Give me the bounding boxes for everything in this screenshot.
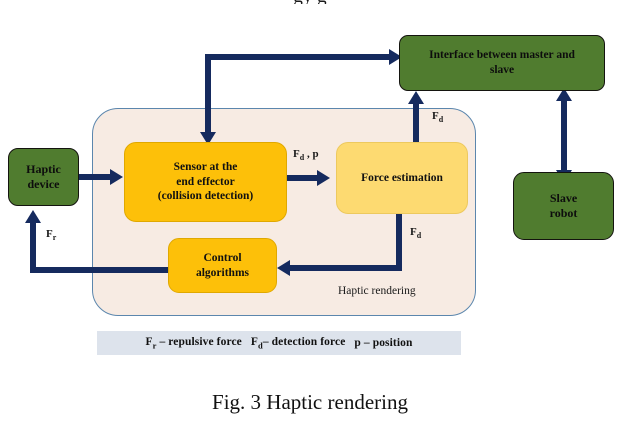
edge-sensor-to-force-line [287,175,320,181]
node-control-algorithms-label: Control algorithms [196,251,249,280]
edge-haptic-to-sensor-arrowhead [110,169,123,185]
edge-control-to-haptic-horizontal [30,267,170,273]
node-slave-robot[interactable]: Slave robot [513,172,614,240]
legend-item-repulsive-force: Fr – repulsive force [145,336,241,350]
figure-haptic-rendering: gy g Haptic rendering Fd , p Fd Fd Fr [0,0,620,426]
edge-force-to-control-horizontal [290,265,398,271]
figure-caption: Fig. 3 Haptic rendering [0,390,620,415]
edge-haptic-to-sensor-line [79,174,114,180]
haptic-rendering-label: Haptic rendering [338,285,416,297]
edge-force-to-control-vertical [396,212,402,271]
legend-item-detection-force: Fd– detection force [251,336,346,350]
edge-sensor-to-force-arrowhead [317,170,330,186]
edge-label-force-to-control: Fd [410,226,421,240]
node-sensor-label: Sensor at the end effector (collision de… [158,160,254,204]
legend-item-position: p – position [354,337,412,349]
edge-branch-vertical-down [205,54,211,136]
edge-control-to-haptic-arrowhead [25,210,41,223]
node-force-estimation[interactable]: Force estimation [336,142,468,214]
edge-label-force-to-interface: Fd [432,110,443,124]
edge-label-sensor-to-force: Fd , p [293,148,319,162]
node-haptic-device-label: Haptic device [26,162,61,193]
edge-label-control-to-haptic: Fr [46,228,56,242]
edge-force-to-interface-arrowhead [408,91,424,104]
cropped-heading-text: gy g [0,0,620,4]
node-slave-robot-label: Slave robot [550,191,578,222]
node-interface-master-slave[interactable]: Interface between master and slave [399,35,605,91]
edge-control-to-haptic-vertical [30,222,36,270]
edge-force-to-control-arrowhead [277,260,290,276]
node-force-estimation-label: Force estimation [361,171,443,186]
edge-branch-horizontal-to-interface [205,54,395,60]
node-sensor-end-effector[interactable]: Sensor at the end effector (collision de… [124,142,287,222]
edge-force-to-interface-line [413,103,419,145]
node-control-algorithms[interactable]: Control algorithms [168,238,277,293]
edge-interface-slave-line [561,100,567,172]
node-interface-label: Interface between master and slave [429,48,575,77]
legend-bar: Fr – repulsive force Fd– detection force… [97,331,461,355]
node-haptic-device[interactable]: Haptic device [8,148,79,206]
